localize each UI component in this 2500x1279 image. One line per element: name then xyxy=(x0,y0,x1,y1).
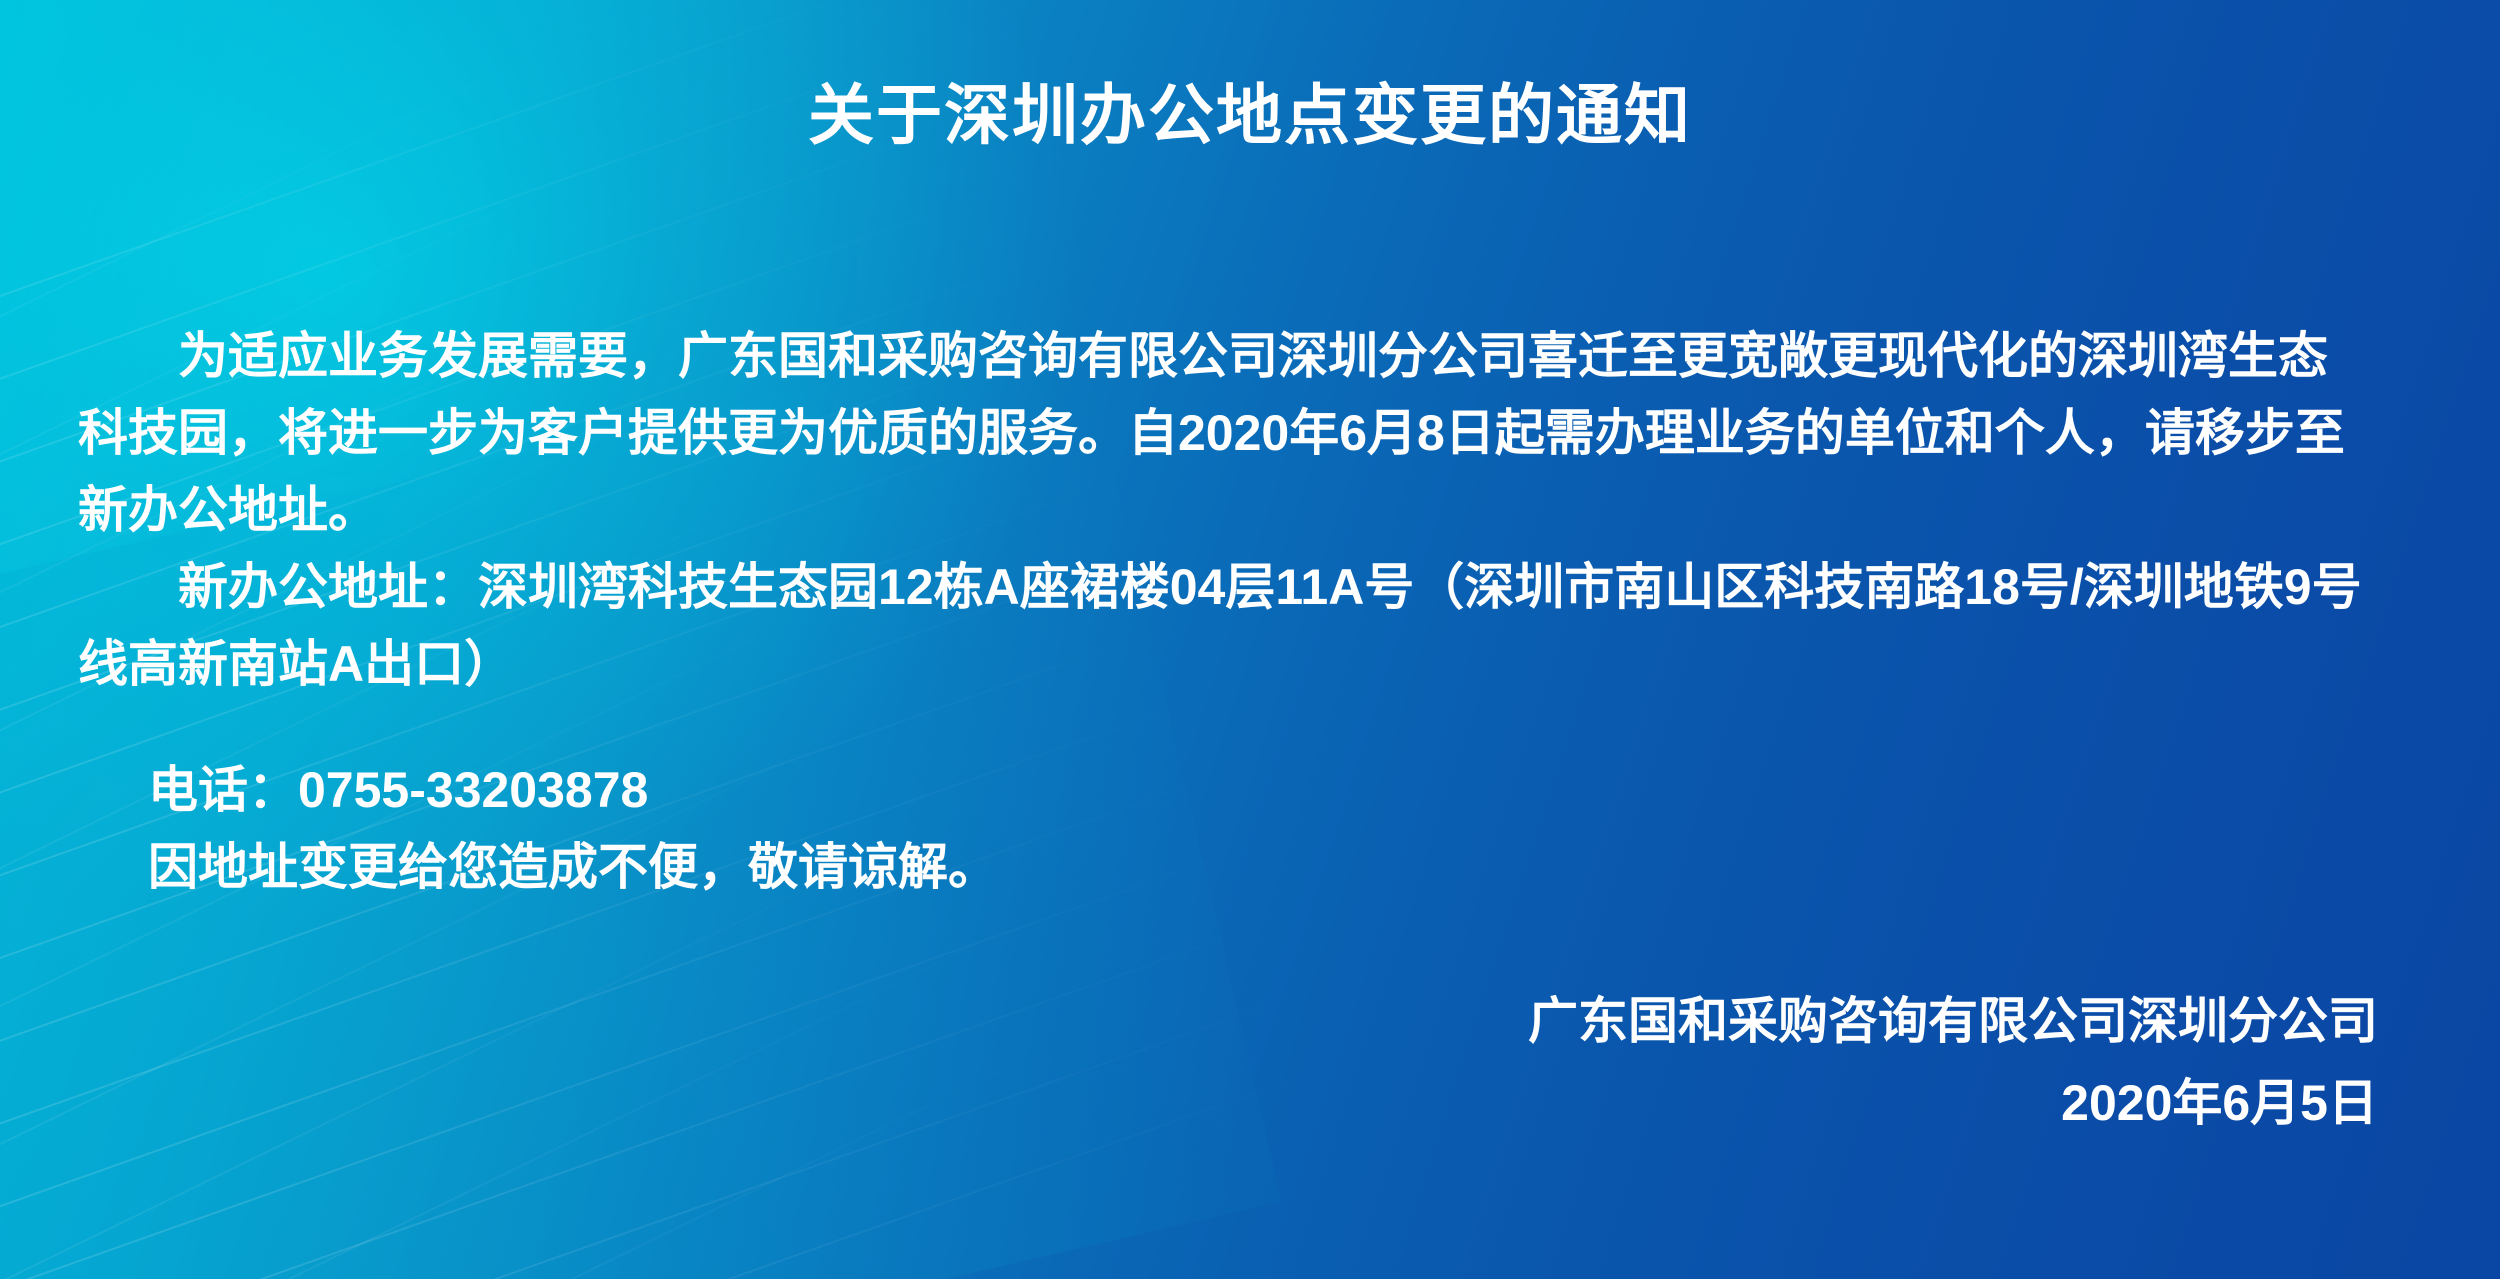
contact-apology-line: 因地址变更给您造成不便，敬请谅解。 xyxy=(148,829,998,906)
notice-signature-block: 广东国和采购咨询有限公司深圳分公司 2020年6月5日 xyxy=(1528,980,2378,1144)
notice-contact-block: 电话：0755-33203878 因地址变更给您造成不便，敬请谅解。 xyxy=(148,752,998,906)
notice-poster: 关于深圳办公地点变更的通知 为适应业务发展需要，广东国和采购咨询有限公司深圳分公… xyxy=(0,0,2500,1279)
signature-date: 2020年6月5日 xyxy=(1528,1062,2378,1144)
signature-organization: 广东国和采购咨询有限公司深圳分公司 xyxy=(1528,980,2378,1062)
notice-paragraph-address: 新办公地址：深圳湾科技生态园12栋A座裙楼04层11A号（深圳市南山区科技南路1… xyxy=(78,549,2368,703)
notice-paragraph-intro: 为适应业务发展需要，广东国和采购咨询有限公司深圳分公司喜迁至更宽敞更现代化的深圳… xyxy=(78,318,2368,549)
notice-body: 为适应业务发展需要，广东国和采购咨询有限公司深圳分公司喜迁至更宽敞更现代化的深圳… xyxy=(78,318,2368,703)
contact-phone-line: 电话：0755-33203878 xyxy=(148,752,998,829)
notice-title: 关于深圳办公地点变更的通知 xyxy=(0,74,2500,157)
poster-content: 关于深圳办公地点变更的通知 为适应业务发展需要，广东国和采购咨询有限公司深圳分公… xyxy=(0,0,2500,1279)
